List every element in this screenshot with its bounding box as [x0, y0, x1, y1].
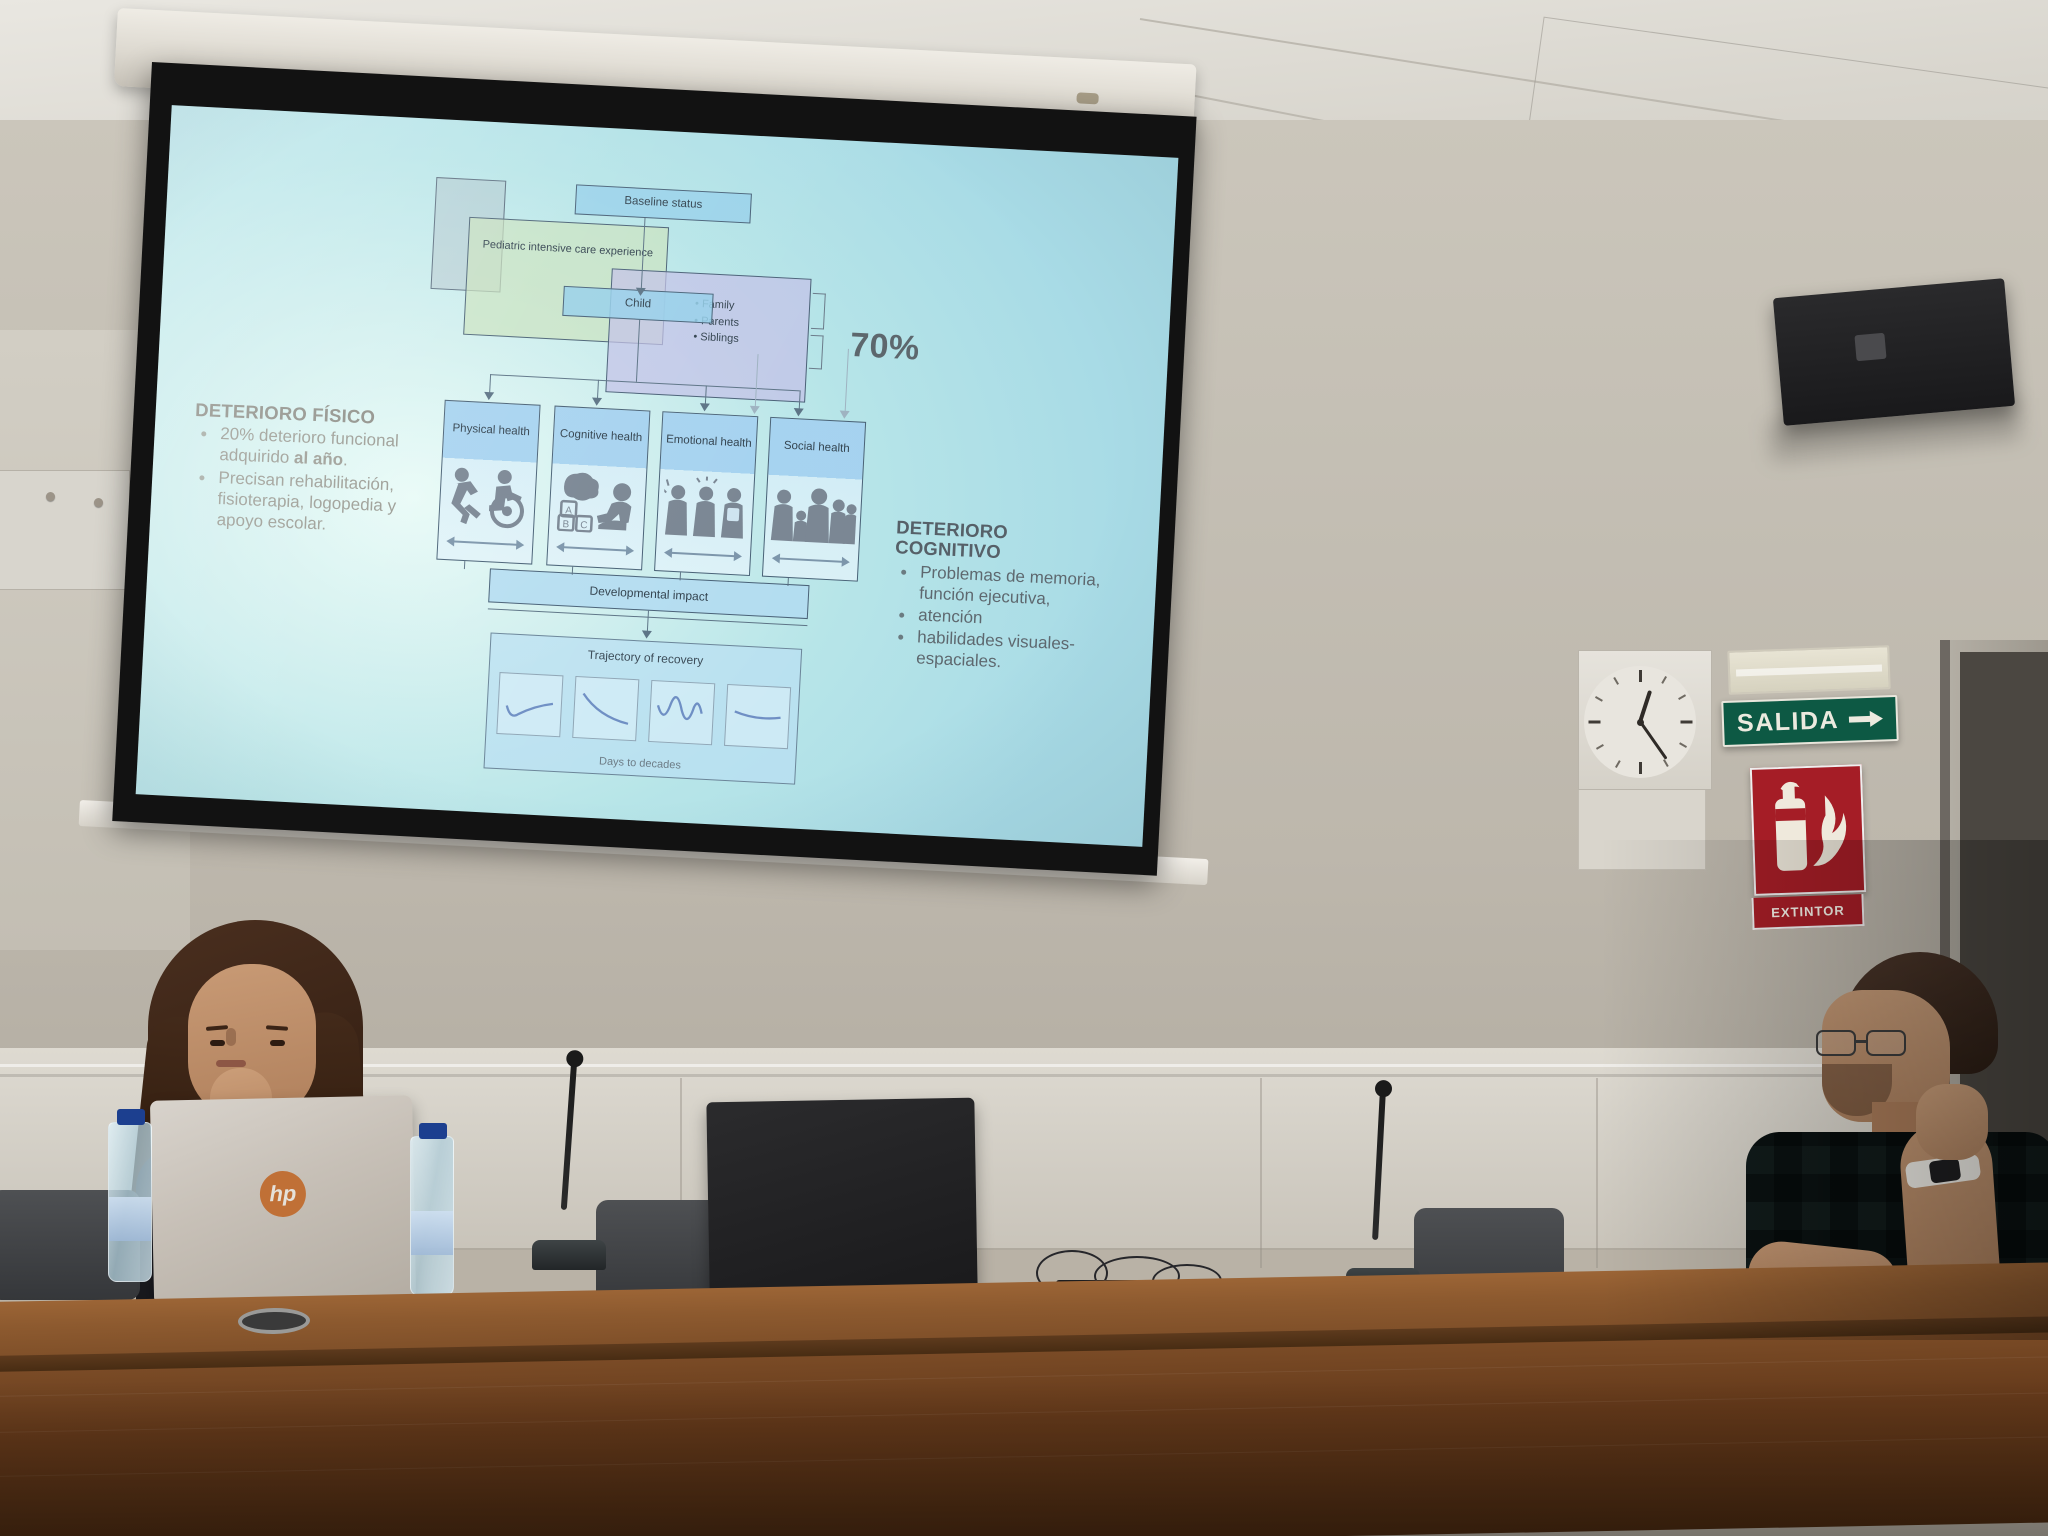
bullet-item: habilidades visuales-espaciales. — [890, 625, 1107, 677]
exit-sign: SALIDA — [1721, 695, 1898, 747]
node-social-health: Social health — [762, 417, 866, 582]
sparkline-oscillating — [648, 680, 715, 745]
bottle-label — [109, 1197, 151, 1241]
arrow-icon — [793, 408, 803, 417]
clock-minute-hand — [1639, 721, 1667, 760]
exit-sign-label: SALIDA — [1737, 705, 1840, 738]
arrow-icon — [592, 397, 602, 406]
wall-screw — [94, 498, 103, 507]
slide-content: 70% DETERIORO FÍSICO 20% deterioro funci… — [136, 105, 1179, 847]
emotional-health-label: Emotional health — [660, 412, 757, 473]
physical-health-label: Physical health — [443, 401, 540, 462]
cognitive-health-label: Cognitive health — [553, 407, 650, 468]
text-block-deterioro-cognitivo: DETERIORO COGNITIVO Problemas de memoria… — [890, 517, 1112, 678]
node-physical-health: Physical health — [436, 400, 540, 565]
microphone-base — [532, 1240, 606, 1270]
water-bottle — [410, 1136, 454, 1296]
bullet-item: Precisan rehabilitación, fisioterapia, l… — [190, 465, 427, 538]
fire-extinguisher-sign — [1750, 764, 1866, 896]
projection-screen: 70% DETERIORO FÍSICO 20% deterioro funci… — [112, 62, 1196, 876]
trajectory-sparklines — [496, 672, 791, 749]
bidirectional-arrow — [438, 527, 533, 560]
arrow-icon — [635, 288, 645, 297]
text-block-deterioro-fisico: DETERIORO FÍSICO 20% deterioro funcional… — [190, 400, 430, 539]
arrow-right-icon — [1849, 710, 1884, 727]
bullet-list-cognitivo: Problemas de memoria, función ejecutiva,… — [890, 560, 1110, 677]
bottle-label — [411, 1211, 453, 1255]
family-group-icon — [765, 474, 863, 549]
social-health-label: Social health — [768, 418, 865, 479]
arrow-icon — [699, 403, 709, 412]
arrow-icon — [642, 630, 652, 639]
water-bottle — [108, 1122, 152, 1282]
clock-hour-hand — [1638, 690, 1652, 723]
distressed-figures-icon — [657, 468, 755, 543]
node-baseline-status: Baseline status — [575, 184, 752, 223]
node-emotional-health: Emotional health — [654, 411, 758, 576]
svg-text:B: B — [562, 519, 570, 530]
wall-mounted-speaker-unit — [1773, 278, 2015, 426]
glasses-icon — [1816, 1030, 1912, 1058]
health-domain-row: Physical health — [436, 400, 878, 582]
laptop-hp[interactable]: hp — [150, 1095, 416, 1300]
laptop-dark[interactable] — [706, 1098, 977, 1295]
picu-outcomes-diagram: Baseline status Pediatric intensive care… — [404, 177, 906, 821]
mouth — [216, 1060, 246, 1067]
heading-deterioro-cognitivo: DETERIORO COGNITIVO — [895, 517, 1112, 567]
clock-lower-panel — [1578, 790, 1706, 870]
node-cognitive-health: Cognitive health A B — [546, 406, 650, 571]
clock-center-pin — [1637, 719, 1644, 726]
hand-on-chin — [1916, 1084, 1988, 1160]
wall-whiteboard — [0, 470, 130, 590]
bullet-list-fisico: 20% deterioro funcional adquirido al año… — [190, 422, 429, 538]
screen-pull-knob[interactable] — [1076, 92, 1099, 104]
arrow-icon — [749, 406, 759, 415]
emergency-light-fixture — [1727, 645, 1890, 695]
hp-logo: hp — [259, 1171, 306, 1218]
bottle-cap — [419, 1123, 447, 1139]
trajectory-label: Trajectory of recovery — [490, 634, 801, 673]
conference-room-photo: SALIDA EXTINTOR 70% DETERIORO FÍSICO — [0, 0, 2048, 1536]
fire-extinguisher-label: EXTINTOR — [1751, 894, 1864, 930]
bottle-cap — [117, 1109, 145, 1125]
projected-slide: 70% DETERIORO FÍSICO 20% deterioro funci… — [136, 105, 1179, 847]
fire-extinguisher-icon — [1752, 766, 1864, 894]
family-brace — [811, 293, 826, 330]
wall-screw — [46, 492, 55, 501]
arrow-icon — [484, 392, 494, 401]
sparkline-flat-plateau — [724, 684, 791, 749]
nose — [226, 1028, 236, 1046]
family-item: Siblings — [693, 329, 739, 348]
sparkline-dip-then-rise — [496, 672, 563, 737]
trajectory-axis-caption: Days to decades — [485, 749, 795, 777]
brain-and-blocks-icon: A B C — [549, 463, 647, 538]
running-and-wheelchair-icon — [439, 457, 537, 532]
bidirectional-arrow — [547, 532, 642, 565]
sparkline-steady-decline — [572, 676, 639, 741]
node-trajectory-of-recovery: Trajectory of recovery — [483, 633, 802, 785]
speaker-plate — [1854, 333, 1886, 362]
svg-text:C: C — [580, 520, 588, 531]
arrow-icon — [839, 410, 849, 419]
connector — [844, 349, 849, 417]
wall-clock — [1584, 666, 1696, 778]
family-brace — [809, 335, 824, 370]
bidirectional-arrow — [655, 538, 750, 571]
bidirectional-arrow — [763, 544, 858, 577]
